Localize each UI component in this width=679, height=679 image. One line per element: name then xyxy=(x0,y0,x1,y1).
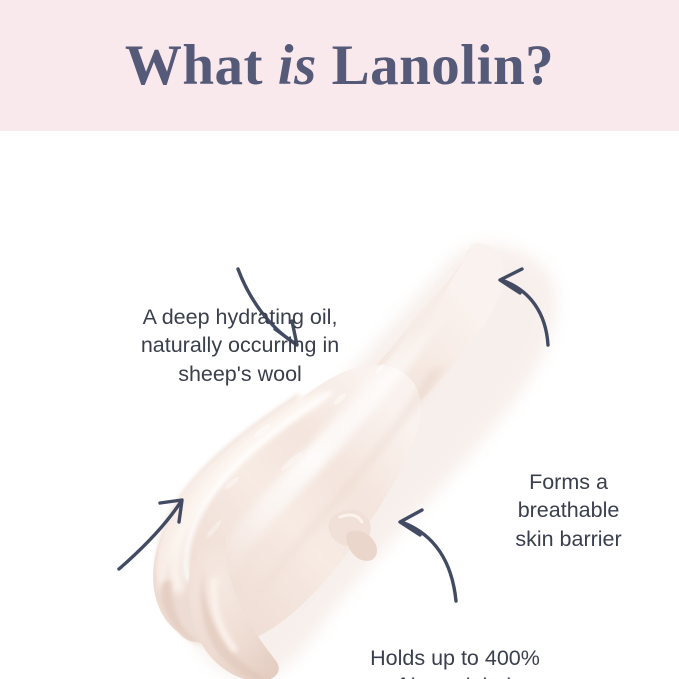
page-title-part2: Lanolin? xyxy=(317,34,554,97)
infographic-canvas: What is Lanolin? xyxy=(0,0,679,679)
annotation-label-wool: A deep hydrating oil, naturally occurrin… xyxy=(90,303,390,388)
artwork-svg xyxy=(0,131,679,679)
page-title-part1: What xyxy=(125,34,278,97)
header-band: What is Lanolin? xyxy=(0,0,679,131)
page-title-emphasis: is xyxy=(278,34,317,97)
page-title: What is Lanolin? xyxy=(125,37,554,94)
artwork-stage: A deep hydrating oil, naturally occurrin… xyxy=(0,131,679,679)
arrow-curve-up-left-moisture xyxy=(400,510,456,601)
annotation-label-barrier: Forms a breathable skin barrier xyxy=(476,468,661,553)
annotation-label-moisture: Holds up to 400% of its weight in moistu… xyxy=(330,644,580,679)
